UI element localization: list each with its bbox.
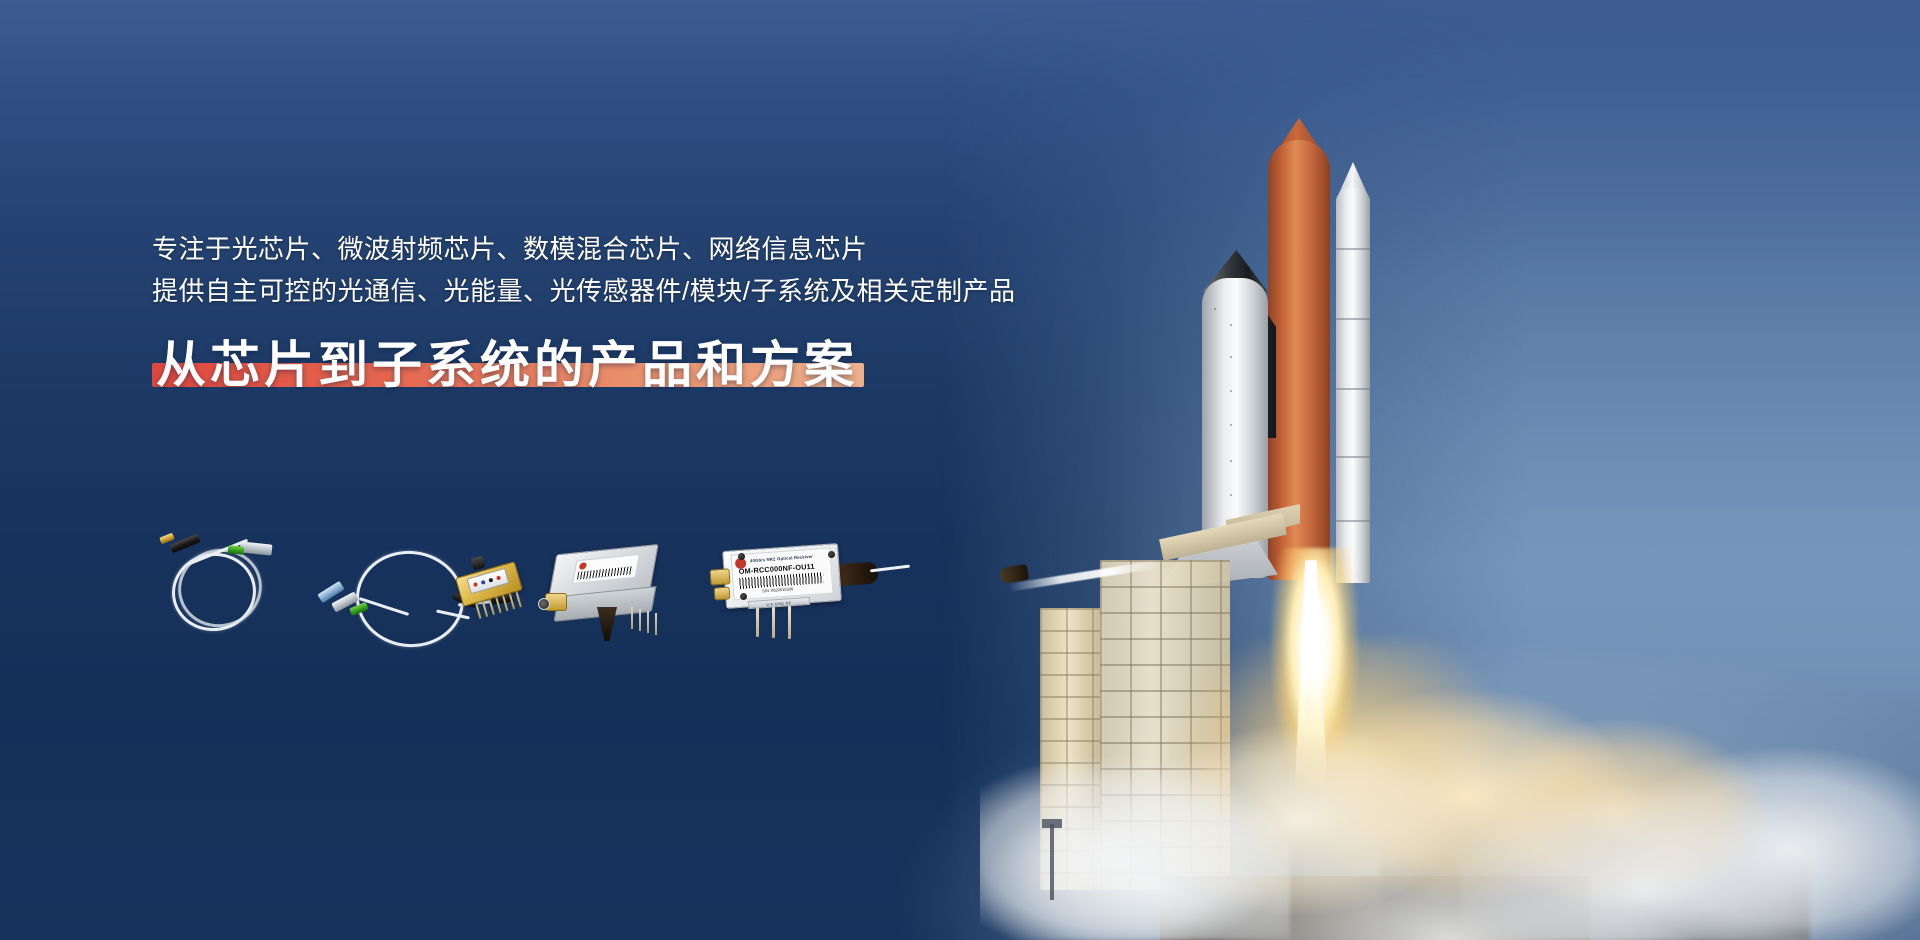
product-showcase-strip: 40Gb/s NRZ Optical Receiver OM-RCC000NF-… xyxy=(150,525,950,665)
banner-headline-wrapper: 从芯片到子系统的产品和方案 xyxy=(152,334,864,397)
fiber-connector-sc xyxy=(240,541,273,555)
smoke-cloud-right xyxy=(1460,680,1920,940)
solid-rocket-booster xyxy=(1336,188,1370,583)
product-fiber-patch-cord-lc xyxy=(158,525,318,645)
banner-subtitle-line-2: 提供自主可控的光通信、光能量、光传感器件/模块/子系统及相关定制产品 xyxy=(152,270,1152,312)
barcode xyxy=(577,566,634,580)
receiver-sma-connector xyxy=(709,568,730,585)
pad-lamp-post xyxy=(1050,824,1054,900)
receiver-sma-connector-2 xyxy=(714,586,731,600)
hero-banner: 专注于光芯片、微波射频芯片、数模混合芯片、网络信息芯片 提供自主可控的光通信、光… xyxy=(0,0,1920,940)
rf-sma-connector xyxy=(545,593,567,611)
product-rf-microwave-module xyxy=(545,543,665,639)
banner-subtitle-line-1: 专注于光芯片、微波射频芯片、数模混合芯片、网络信息芯片 xyxy=(152,228,1152,270)
product-optical-receiver-module: 40Gb/s NRZ Optical Receiver OM-RCC000NF-… xyxy=(710,533,900,641)
product-butterfly-laser-module xyxy=(450,551,534,627)
fiber-connector-apc xyxy=(228,545,245,555)
receiver-product-label: 40Gb/s NRZ Optical Receiver OM-RCC000NF-… xyxy=(731,548,834,601)
pad-lamp-head xyxy=(1042,819,1062,828)
rf-fiber-boot xyxy=(597,607,617,641)
banner-copy-block: 专注于光芯片、微波射频芯片、数模混合芯片、网络信息芯片 提供自主可控的光通信、光… xyxy=(152,228,1152,397)
brand-logo-mark xyxy=(579,562,587,570)
receiver-label-serial: S/N: 0620010336 xyxy=(762,586,793,593)
banner-headline: 从芯片到子系统的产品和方案 xyxy=(156,334,858,397)
butterfly-thermistor xyxy=(471,556,486,571)
